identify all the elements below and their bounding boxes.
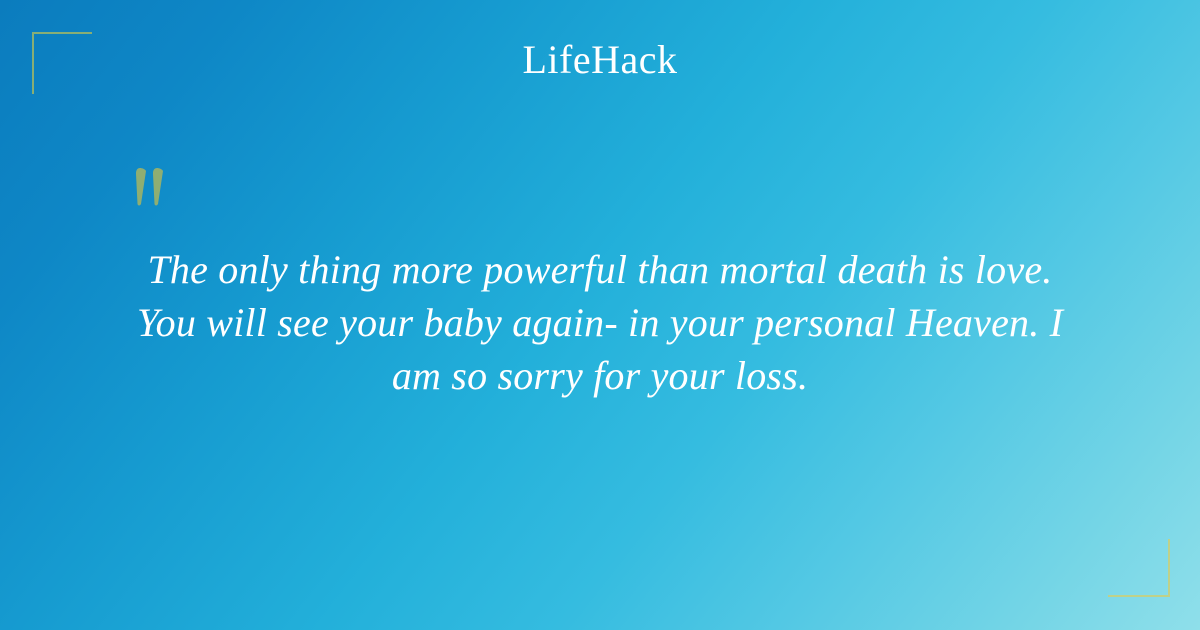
- quote-line: You will see your baby again- in your pe…: [100, 296, 1100, 349]
- quotation-mark-icon: [128, 160, 198, 230]
- quote-line: The only thing more powerful than mortal…: [100, 243, 1100, 296]
- quote-card: LifeHack The only thing more powerful th…: [0, 0, 1200, 630]
- brand-logo: LifeHack: [0, 36, 1200, 84]
- quote-text: The only thing more powerful than mortal…: [100, 243, 1100, 402]
- corner-bracket-bottom-right-icon: [1108, 539, 1170, 597]
- quote-line: am so sorry for your loss.: [100, 349, 1100, 402]
